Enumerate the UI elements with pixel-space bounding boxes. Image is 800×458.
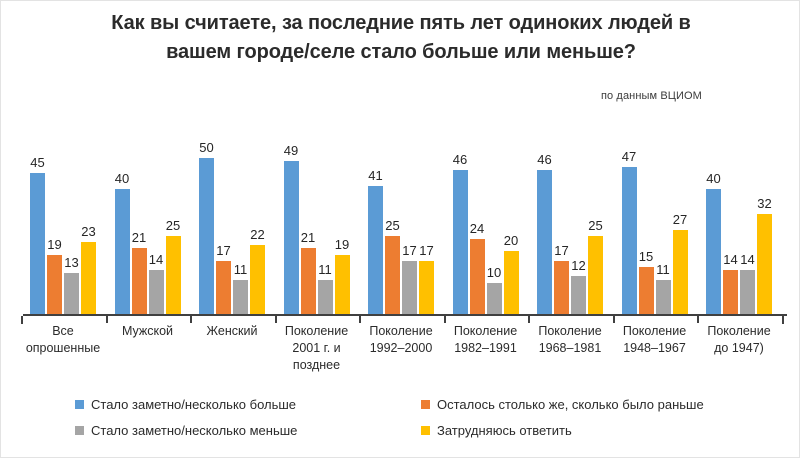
bar-set: 46171225 <box>537 140 603 314</box>
bar-value-label: 14 <box>723 253 737 266</box>
axis-tick <box>190 316 192 323</box>
bar-column[interactable]: 41 <box>368 140 383 314</box>
axis-tick <box>106 316 108 323</box>
bar-value-label: 40 <box>115 172 129 185</box>
bar-column[interactable]: 19 <box>335 140 350 314</box>
bar-column[interactable]: 47 <box>622 140 637 314</box>
bar[interactable] <box>571 276 586 314</box>
bar-value-label: 49 <box>284 144 298 157</box>
bar-value-label: 21 <box>301 231 315 244</box>
chart-slide: Как вы считаете, за последние пять лет о… <box>0 0 800 458</box>
bar-column[interactable]: 25 <box>166 140 181 314</box>
category-label: Поколение 1992–2000 <box>356 323 446 357</box>
legend-label: Стало заметно/несколько меньше <box>91 423 297 438</box>
source-note: по данным ВЦИОМ <box>601 90 702 102</box>
legend-swatch-icon <box>75 400 84 409</box>
category-label: Поколение 1982–1991 <box>441 323 531 357</box>
bar-column[interactable]: 10 <box>487 140 502 314</box>
bar[interactable] <box>504 251 519 314</box>
legend-item-2[interactable]: Стало заметно/несколько меньше <box>75 423 297 438</box>
bar-column[interactable]: 14 <box>740 140 755 314</box>
legend-row: Стало заметно/несколько больше Осталось … <box>75 397 775 423</box>
bar-column[interactable]: 32 <box>757 140 772 314</box>
bar-set: 40141432 <box>706 140 772 314</box>
bar-value-label: 14 <box>740 253 754 266</box>
bar-value-label: 19 <box>335 238 349 251</box>
bar-value-label: 25 <box>385 219 399 232</box>
legend-row: Стало заметно/несколько меньше Затрудняю… <box>75 423 775 449</box>
bar[interactable] <box>335 255 350 314</box>
bar[interactable] <box>64 273 79 314</box>
bar[interactable] <box>470 239 485 314</box>
page-title: Как вы считаете, за последние пять лет о… <box>91 9 711 67</box>
bar-value-label: 40 <box>706 172 720 185</box>
bar[interactable] <box>656 280 671 314</box>
bar-value-label: 47 <box>622 150 636 163</box>
bar-column[interactable]: 24 <box>470 140 485 314</box>
category-label: Все опрошенные <box>18 323 108 357</box>
bar-value-label: 15 <box>639 250 653 263</box>
bar-column[interactable]: 17 <box>402 140 417 314</box>
bar-value-label: 11 <box>656 263 670 276</box>
bar[interactable] <box>419 261 434 314</box>
bar-value-label: 17 <box>554 244 568 257</box>
bar-column[interactable]: 40 <box>115 140 130 314</box>
bar-value-label: 27 <box>673 213 687 226</box>
legend-label: Осталось столько же, сколько было раньше <box>437 397 704 412</box>
legend-item-1[interactable]: Осталось столько же, сколько было раньше <box>421 397 704 412</box>
bar-set: 45191323 <box>30 140 96 314</box>
bar-column[interactable]: 20 <box>504 140 519 314</box>
axis-tick <box>359 316 361 323</box>
bar-column[interactable]: 11 <box>318 140 333 314</box>
axis-tick <box>275 316 277 323</box>
bar-column[interactable]: 13 <box>64 140 79 314</box>
bar-value-label: 23 <box>81 225 95 238</box>
legend-label: Стало заметно/несколько больше <box>91 397 296 412</box>
bar-column[interactable]: 14 <box>723 140 738 314</box>
bar-column[interactable]: 19 <box>47 140 62 314</box>
bar-column[interactable]: 17 <box>419 140 434 314</box>
bar-value-label: 14 <box>149 253 163 266</box>
bar[interactable] <box>216 261 231 314</box>
bar-column[interactable]: 21 <box>301 140 316 314</box>
bar[interactable] <box>233 280 248 314</box>
legend-swatch-icon <box>421 400 430 409</box>
bar-set: 47151127 <box>622 140 688 314</box>
bar-value-label: 24 <box>470 222 484 235</box>
bar[interactable] <box>673 230 688 315</box>
bar-value-label: 25 <box>166 219 180 232</box>
bar-set: 50171122 <box>199 140 265 314</box>
bar-value-label: 10 <box>487 266 501 279</box>
legend-swatch-icon <box>421 426 430 435</box>
axis-tick <box>444 316 446 323</box>
bar[interactable] <box>723 270 738 314</box>
bar-value-label: 17 <box>402 244 416 257</box>
bar-value-label: 20 <box>504 234 518 247</box>
bar-column[interactable]: 11 <box>233 140 248 314</box>
category-label: Поколение 1968–1981 <box>525 323 615 357</box>
bar[interactable] <box>402 261 417 314</box>
bar-column[interactable]: 15 <box>639 140 654 314</box>
bar[interactable] <box>757 214 772 314</box>
bar[interactable] <box>318 280 333 314</box>
bar-value-label: 11 <box>318 263 332 276</box>
bar-column[interactable]: 23 <box>81 140 96 314</box>
bar[interactable] <box>639 267 654 314</box>
legend-swatch-icon <box>75 426 84 435</box>
bar-set: 40211425 <box>115 140 181 314</box>
bar-value-label: 17 <box>419 244 433 257</box>
bar-column[interactable]: 12 <box>571 140 586 314</box>
legend-label: Затрудняюсь ответить <box>437 423 572 438</box>
category-label: Поколение до 1947) <box>694 323 784 357</box>
category-label: Женский <box>187 323 277 340</box>
bar-value-label: 11 <box>234 263 248 276</box>
bar[interactable] <box>622 167 637 314</box>
bar[interactable] <box>301 248 316 314</box>
bar-column[interactable]: 46 <box>537 140 552 314</box>
bar[interactable] <box>199 158 214 315</box>
category-labels: Все опрошенныеМужскойЖенскийПоколение 20… <box>23 323 788 383</box>
bar-column[interactable]: 17 <box>554 140 569 314</box>
bar[interactable] <box>284 161 299 314</box>
bar-column[interactable]: 22 <box>250 140 265 314</box>
axis-tick <box>697 316 699 323</box>
category-label: Мужской <box>103 323 193 340</box>
x-axis-line <box>23 314 787 316</box>
bar-column[interactable]: 50 <box>199 140 214 314</box>
bar[interactable] <box>487 283 502 314</box>
bar-value-label: 45 <box>30 156 44 169</box>
bar-column[interactable]: 14 <box>149 140 164 314</box>
bar-column[interactable]: 21 <box>132 140 147 314</box>
bar[interactable] <box>740 270 755 314</box>
title-block: Как вы считаете, за последние пять лет о… <box>91 9 711 67</box>
chart-legend: Стало заметно/несколько больше Осталось … <box>75 397 775 449</box>
axis-tick <box>613 316 615 323</box>
bar[interactable] <box>554 261 569 314</box>
bar-chart-plot-area: 4519132340211425501711224921111941251717… <box>23 141 788 315</box>
bar[interactable] <box>81 242 96 314</box>
bar-value-label: 41 <box>368 169 382 182</box>
bar[interactable] <box>166 236 181 314</box>
bar-value-label: 12 <box>571 259 585 272</box>
bar-column[interactable]: 25 <box>588 140 603 314</box>
bar-column[interactable]: 25 <box>385 140 400 314</box>
axis-tick <box>528 316 530 323</box>
category-label: Поколение 1948–1967 <box>610 323 700 357</box>
bar-value-label: 25 <box>588 219 602 232</box>
bar-column[interactable]: 40 <box>706 140 721 314</box>
bar[interactable] <box>30 173 45 314</box>
bar[interactable] <box>588 236 603 314</box>
bar-column[interactable]: 46 <box>453 140 468 314</box>
bar-value-label: 32 <box>757 197 771 210</box>
bar-value-label: 21 <box>132 231 146 244</box>
bar[interactable] <box>132 248 147 314</box>
bar-value-label: 46 <box>537 153 551 166</box>
bar-value-label: 46 <box>453 153 467 166</box>
bar-set: 41251717 <box>368 140 434 314</box>
bar-column[interactable]: 17 <box>216 140 231 314</box>
bar[interactable] <box>368 186 383 314</box>
bar[interactable] <box>115 189 130 314</box>
bar-column[interactable]: 49 <box>284 140 299 314</box>
legend-item-0[interactable]: Стало заметно/несколько больше <box>75 397 296 412</box>
bar[interactable] <box>385 236 400 314</box>
bar[interactable] <box>250 245 265 314</box>
bar-value-label: 19 <box>47 238 61 251</box>
bar[interactable] <box>706 189 721 314</box>
bar-column[interactable]: 45 <box>30 140 45 314</box>
bar-column[interactable]: 11 <box>656 140 671 314</box>
bar-value-label: 17 <box>216 244 230 257</box>
legend-item-3[interactable]: Затрудняюсь ответить <box>421 423 572 438</box>
bar-set: 49211119 <box>284 140 350 314</box>
bar[interactable] <box>149 270 164 314</box>
bar-value-label: 13 <box>64 256 78 269</box>
bar[interactable] <box>537 170 552 314</box>
bar[interactable] <box>47 255 62 314</box>
bar[interactable] <box>453 170 468 314</box>
bar-value-label: 50 <box>199 141 213 154</box>
bar-column[interactable]: 27 <box>673 140 688 314</box>
bar-set: 46241020 <box>453 140 519 314</box>
bar-value-label: 22 <box>250 228 264 241</box>
category-label: Поколение 2001 г. и позднее <box>272 323 362 374</box>
